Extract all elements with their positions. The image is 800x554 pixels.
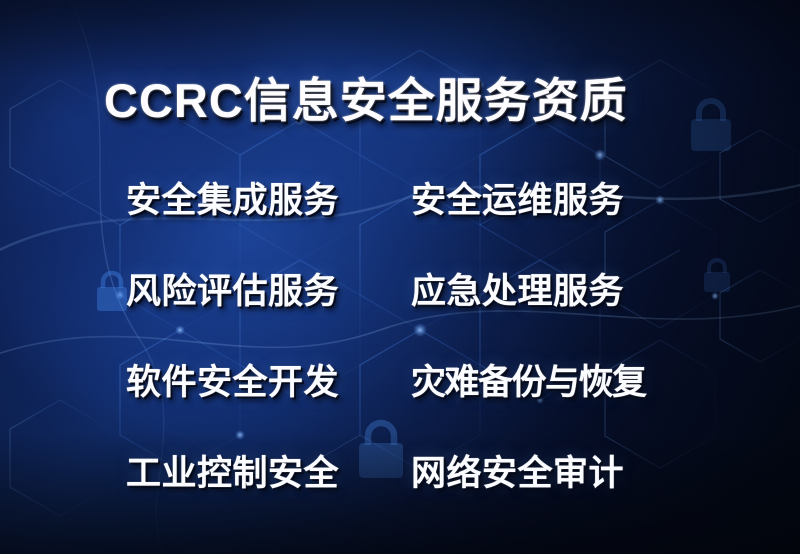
service-item-security-integration[interactable]: 安全集成服务	[126, 172, 339, 223]
service-item-software-security-development[interactable]: 软件安全开发	[126, 354, 339, 405]
service-item-disaster-backup-recovery[interactable]: 灾难备份与恢复	[411, 354, 646, 405]
services-grid: 安全集成服务 安全运维服务 风险评估服务 应急处理服务 软件安全开发 灾难备份与…	[0, 172, 800, 536]
poster-content: CCRC信息安全服务资质 安全集成服务 安全运维服务 风险评估服务 应急处理服务…	[0, 0, 800, 554]
service-item-network-security-audit[interactable]: 网络安全审计	[411, 445, 624, 496]
services-row-3: 软件安全开发 灾难备份与恢复	[0, 354, 800, 445]
services-row-4: 工业控制安全 网络安全审计	[0, 445, 800, 536]
service-item-security-operations[interactable]: 安全运维服务	[411, 172, 624, 223]
service-item-industrial-control-security[interactable]: 工业控制安全	[126, 445, 339, 496]
page-title: CCRC信息安全服务资质	[104, 62, 628, 131]
services-row-1: 安全集成服务 安全运维服务	[0, 172, 800, 263]
ccrc-qualification-poster: CCRC信息安全服务资质 安全集成服务 安全运维服务 风险评估服务 应急处理服务…	[0, 0, 800, 554]
services-row-2: 风险评估服务 应急处理服务	[0, 263, 800, 354]
service-item-emergency-response[interactable]: 应急处理服务	[411, 263, 624, 314]
service-item-risk-assessment[interactable]: 风险评估服务	[126, 263, 339, 314]
